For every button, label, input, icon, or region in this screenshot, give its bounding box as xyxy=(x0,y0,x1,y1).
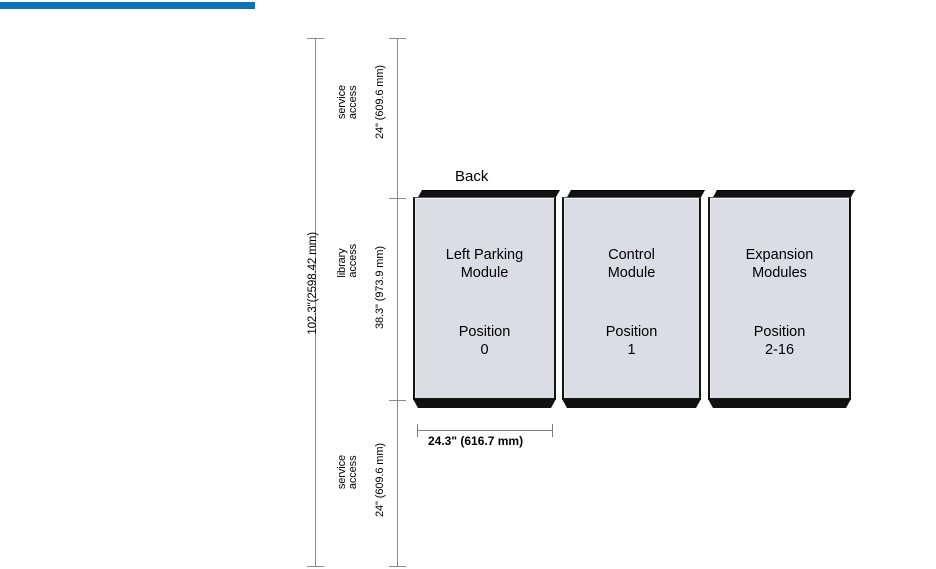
module-face: ExpansionModules Position2-16 xyxy=(708,197,851,400)
segment-dimension-cap-lower-middle xyxy=(389,400,406,401)
service-access-top-words: serviceaccess xyxy=(337,85,359,119)
segment-dimension-cap-top xyxy=(389,38,406,39)
service-access-bottom-dimension-line xyxy=(397,400,398,566)
overall-dimension-label: 102.3"(2598.42 mm) xyxy=(308,232,320,335)
module-face: ControlModule Position1 xyxy=(562,197,701,400)
width-dimension-line xyxy=(417,430,553,431)
module-name-line1: Control xyxy=(608,247,655,263)
module-control[interactable]: ControlModule Position1 xyxy=(562,190,705,408)
module-expansion[interactable]: ExpansionModules Position2-16 xyxy=(708,190,855,408)
module-position-value: 2-16 xyxy=(765,342,794,358)
width-dimension-cap-right xyxy=(552,424,553,437)
module-name: ExpansionModules xyxy=(710,246,849,282)
module-face: Left ParkingModule Position0 xyxy=(413,197,556,400)
library-access-dimension-line xyxy=(397,198,398,400)
module-name: ControlModule xyxy=(564,246,699,282)
module-face-highlight xyxy=(415,198,554,398)
module-face-highlight xyxy=(710,198,849,398)
module-position: Position2-16 xyxy=(710,323,849,359)
width-dimension-label: 24.3" (616.7 mm) xyxy=(428,434,523,448)
service-access-bottom-line2: access xyxy=(347,456,359,490)
module-name-line2: Modules xyxy=(752,265,807,281)
library-access-measure: 38.3" (973.9 mm) xyxy=(375,246,386,329)
width-dimension-cap-left xyxy=(417,424,418,437)
module-position: Position1 xyxy=(564,323,699,359)
orientation-label-back: Back xyxy=(455,168,488,185)
blue-divider xyxy=(0,2,255,9)
module-name-line1: Expansion xyxy=(746,247,814,263)
module-bottom-edge xyxy=(562,399,701,408)
module-position-label: Position xyxy=(606,324,658,340)
module-name-line2: Module xyxy=(608,265,656,281)
module-bottom-edge xyxy=(413,399,556,408)
overall-dimension-cap-top xyxy=(307,38,324,39)
module-position-label: Position xyxy=(754,324,806,340)
module-left-parking[interactable]: Left ParkingModule Position0 xyxy=(413,190,560,408)
module-position-value: 0 xyxy=(480,342,488,358)
service-access-top-line2: access xyxy=(347,86,359,120)
module-face-highlight xyxy=(564,198,699,398)
module-position-value: 1 xyxy=(627,342,635,358)
module-position-label: Position xyxy=(459,324,511,340)
module-name: Left ParkingModule xyxy=(415,246,554,282)
module-name-line2: Module xyxy=(461,265,509,281)
service-access-top-measure: 24" (609.6 mm) xyxy=(375,65,386,139)
service-access-top-dimension-line xyxy=(397,38,398,198)
service-access-bottom-words: serviceaccess xyxy=(337,455,359,489)
library-access-line2: access xyxy=(347,244,359,278)
segment-dimension-cap-bottom xyxy=(389,566,406,567)
module-name-line1: Left Parking xyxy=(446,247,523,263)
overall-dimension-cap-bottom xyxy=(307,566,324,567)
module-position: Position0 xyxy=(415,323,554,359)
service-access-bottom-measure: 24" (609.6 mm) xyxy=(375,443,386,517)
library-access-words: libraryaccess xyxy=(337,244,359,278)
segment-dimension-cap-upper-middle xyxy=(389,198,406,199)
module-bottom-edge xyxy=(708,399,851,408)
